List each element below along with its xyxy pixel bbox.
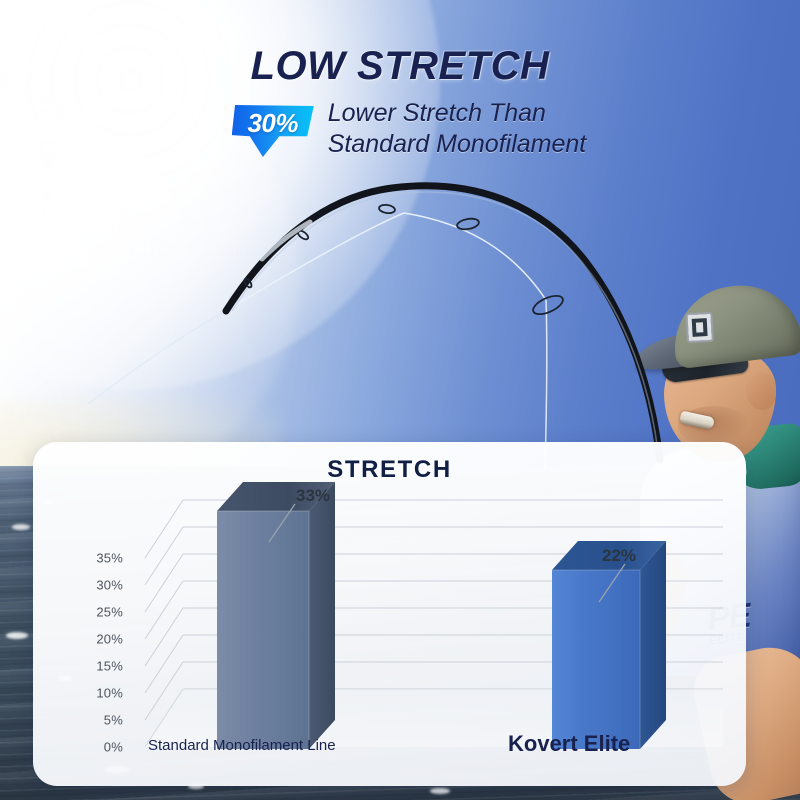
gridline-depth bbox=[145, 581, 183, 639]
angler-ear bbox=[746, 372, 776, 410]
y-axis-labels: 35% 30% 25% 20% 15% 10% 5% 0% bbox=[57, 442, 123, 786]
y-tick-30: 30% bbox=[57, 578, 123, 593]
hero-subtitle-line-2: Standard Monofilament bbox=[328, 129, 586, 160]
gridline-depth bbox=[145, 554, 183, 612]
y-tick-10: 10% bbox=[57, 686, 123, 701]
y-tick-15: 15% bbox=[57, 659, 123, 674]
chart-card: STRETCH bbox=[33, 442, 746, 786]
cap-logo-patch bbox=[685, 312, 714, 343]
y-tick-0: 0% bbox=[57, 740, 123, 755]
infographic-canvas: PE ELITE bbox=[0, 0, 800, 800]
y-tick-25: 25% bbox=[57, 605, 123, 620]
y-tick-35: 35% bbox=[57, 551, 123, 566]
percent-badge-value: 30% bbox=[232, 108, 314, 139]
bar-kovert-elite bbox=[552, 541, 666, 749]
category-label-standard-monofilament: Standard Monofilament Line bbox=[148, 737, 336, 754]
hero-subtitle-row: 30% Lower Stretch Than Standard Monofila… bbox=[0, 98, 800, 160]
category-label-kovert-elite: Kovert Elite bbox=[508, 731, 630, 757]
data-label-kovert-elite: 22% bbox=[602, 546, 636, 566]
bar-standard-monofilament bbox=[217, 482, 335, 749]
water-glint bbox=[430, 788, 450, 794]
water-glint bbox=[6, 632, 28, 639]
water-glint bbox=[12, 524, 30, 530]
y-tick-20: 20% bbox=[57, 632, 123, 647]
hero-headline-block: LOW STRETCH 30% Lower Stretch Than Stand… bbox=[0, 44, 800, 160]
data-label-standard-monofilament: 33% bbox=[296, 486, 330, 506]
bar-front-face bbox=[217, 511, 309, 749]
hero-subtitle: Lower Stretch Than Standard Monofilament bbox=[328, 98, 586, 160]
chart-plot-area bbox=[33, 442, 746, 786]
bar-side-face bbox=[309, 482, 335, 749]
y-tick-5: 5% bbox=[57, 713, 123, 728]
angler-cap bbox=[668, 278, 800, 369]
gridline-depth bbox=[145, 635, 183, 693]
bar-front-face bbox=[552, 570, 640, 749]
hero-subtitle-line-1: Lower Stretch Than bbox=[328, 98, 586, 129]
gridline-depth bbox=[145, 608, 183, 666]
gridline-depth bbox=[145, 527, 183, 585]
gridline-depth bbox=[145, 500, 183, 558]
bar-side-face bbox=[640, 541, 666, 749]
page-title: LOW STRETCH bbox=[0, 44, 800, 89]
percent-badge: 30% bbox=[232, 105, 314, 157]
